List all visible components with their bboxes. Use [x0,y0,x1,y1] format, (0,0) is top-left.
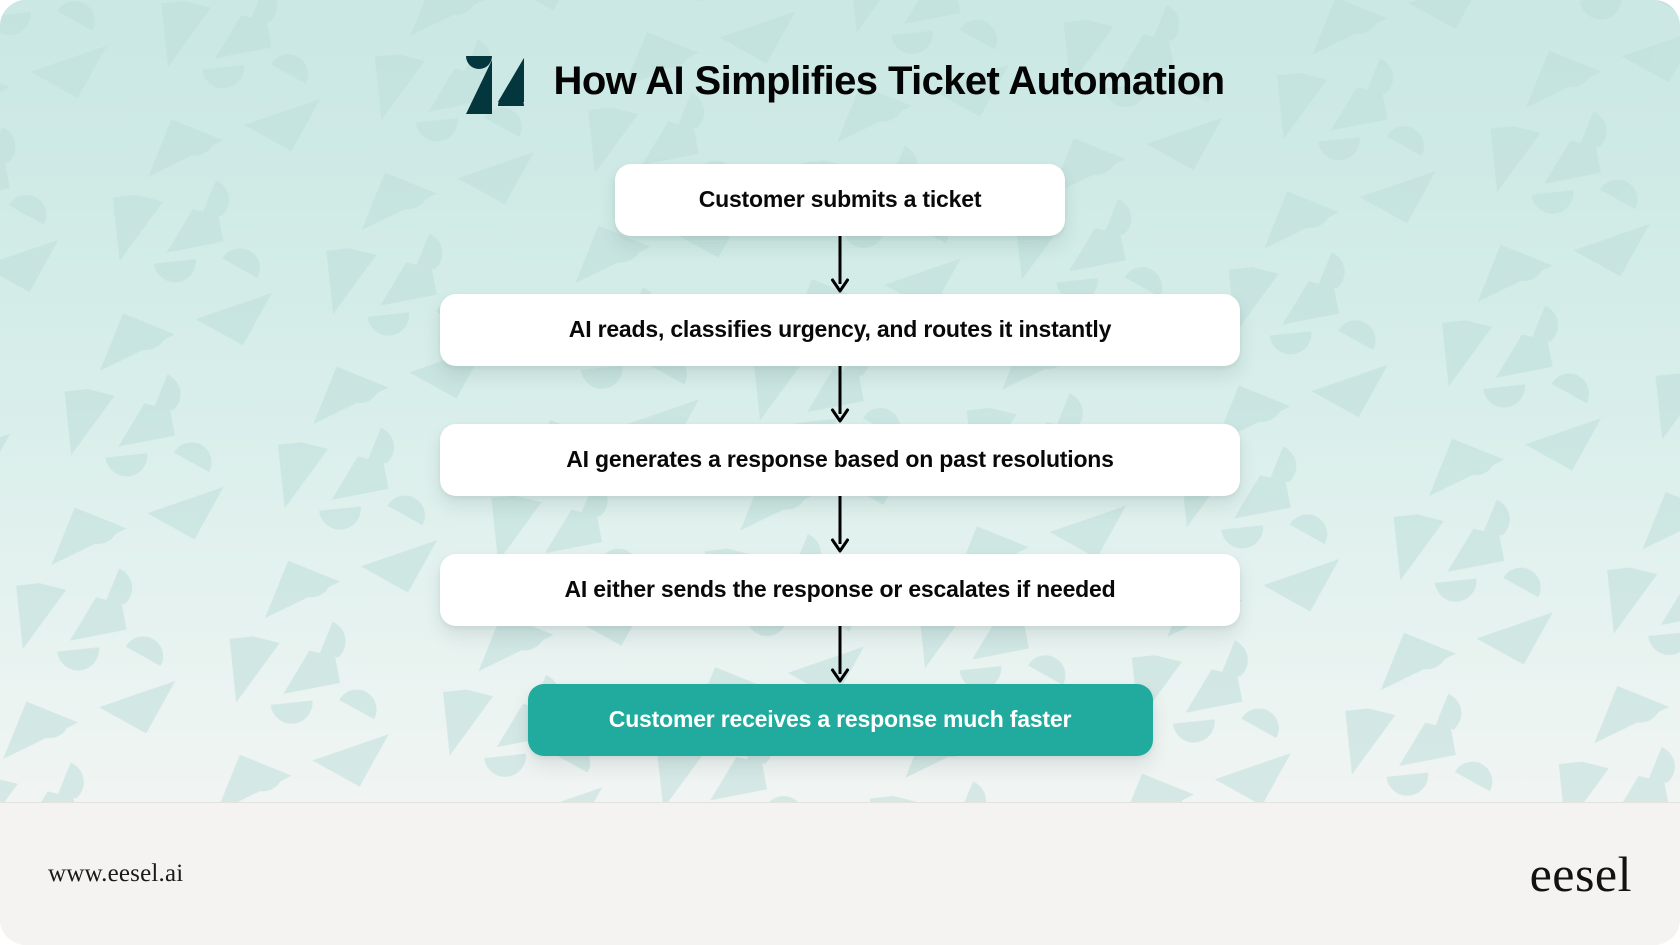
header: How AI Simplifies Ticket Automation [0,46,1680,116]
flow-node-label: Customer submits a ticket [699,186,982,214]
infographic-card: How AI Simplifies Ticket Automation Cust… [0,0,1680,945]
footer: www.eesel.ai eesel [0,802,1680,945]
footer-brand-logo: eesel [1530,849,1632,899]
infographic-canvas: How AI Simplifies Ticket Automation Cust… [0,0,1680,945]
flow-node-label: AI reads, classifies urgency, and routes… [569,316,1111,344]
flow-node-3: AI generates a response based on past re… [440,424,1240,496]
arrow-down-icon [839,366,842,424]
flow-node-5: Customer receives a response much faster [528,684,1153,756]
footer-url[interactable]: www.eesel.ai [48,860,183,888]
flow-node-label: AI generates a response based on past re… [566,446,1113,474]
arrow-down-icon [839,626,842,684]
zendesk-logo [464,46,526,116]
flow-chart: Customer submits a ticketAI reads, class… [0,164,1680,756]
page-title: How AI Simplifies Ticket Automation [554,61,1225,101]
flow-node-1: Customer submits a ticket [615,164,1065,236]
arrow-down-icon [839,496,842,554]
arrow-down-icon [839,236,842,294]
flow-node-2: AI reads, classifies urgency, and routes… [440,294,1240,366]
flow-node-label: AI either sends the response or escalate… [565,576,1116,604]
flow-node-label: Customer receives a response much faster [609,706,1071,734]
flow-node-4: AI either sends the response or escalate… [440,554,1240,626]
